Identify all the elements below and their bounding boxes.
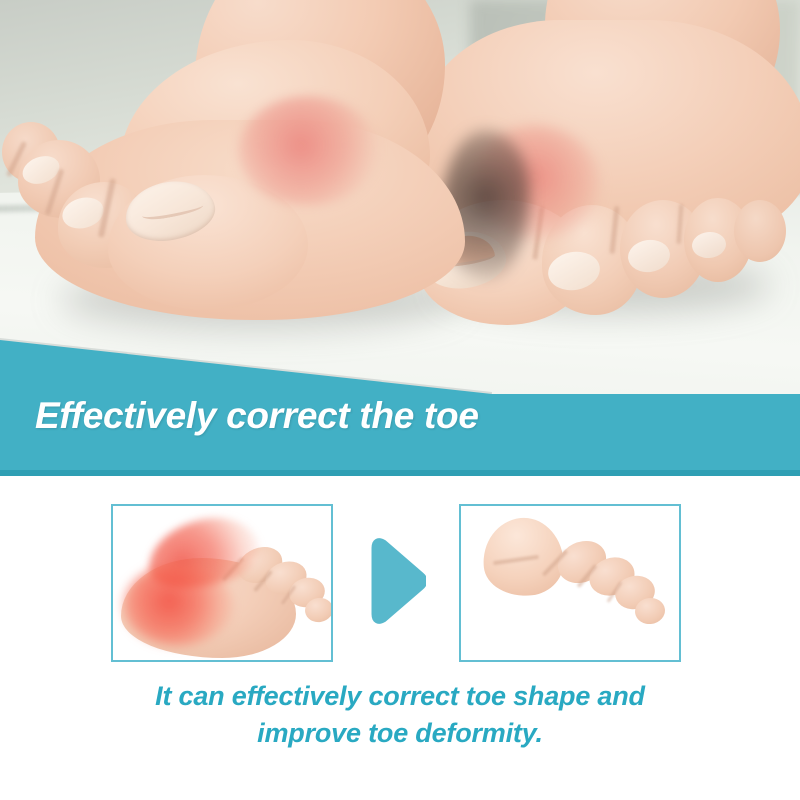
right-foot-toe-5 [734, 200, 786, 262]
caption-line-2: improve toe deformity. [0, 715, 800, 752]
before-after-section: It can effectively correct toe shape and… [0, 476, 800, 800]
after-photo-frame [459, 504, 681, 662]
banner-headline: Effectively correct the toe [35, 395, 479, 437]
product-marketing-image: Effectively correct the toe [0, 0, 800, 800]
headline-banner: Effectively correct the toe [0, 330, 800, 476]
transformation-arrow [368, 538, 426, 624]
before-photo-frame [111, 504, 333, 662]
comparison-caption: It can effectively correct toe shape and… [0, 678, 800, 753]
after-photo-inner [461, 506, 679, 660]
caption-line-1: It can effectively correct toe shape and [0, 678, 800, 715]
before-photo-inner [113, 506, 331, 660]
left-foot-bunion-redness [238, 96, 378, 206]
right-triangle-arrow-icon [376, 543, 423, 620]
before-inflamed-bunion [123, 564, 233, 646]
